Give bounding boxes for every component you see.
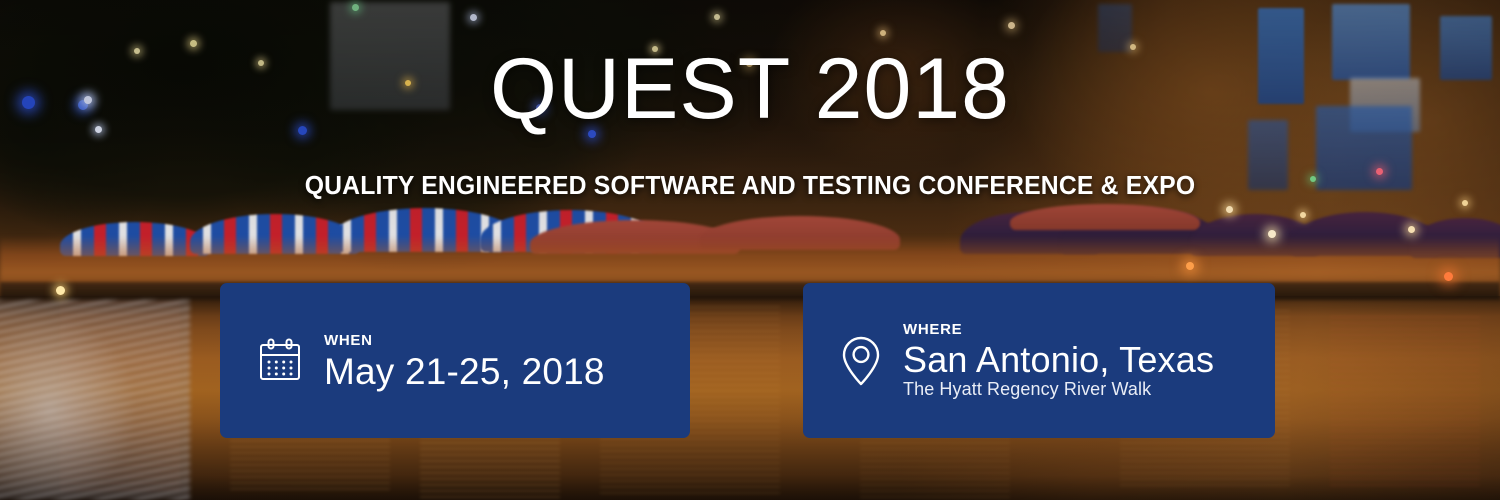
when-value: May 21-25, 2018 [324, 351, 605, 392]
where-card: WHERE San Antonio, Texas The Hyatt Regen… [803, 283, 1275, 438]
quest-2018-event-banner: QUEST 2018 QUALITY ENGINEERED SOFTWARE A… [0, 0, 1500, 500]
where-card-text: WHERE San Antonio, Texas The Hyatt Regen… [903, 321, 1214, 399]
map-pin-icon [833, 333, 889, 389]
where-value: San Antonio, Texas [903, 340, 1214, 380]
where-label: WHERE [903, 321, 1214, 338]
when-label: WHEN [324, 332, 605, 349]
event-subtitle: QUALITY ENGINEERED SOFTWARE AND TESTING … [23, 172, 1478, 201]
when-card: WHEN May 21-25, 2018 [220, 283, 690, 438]
when-card-text: WHEN May 21-25, 2018 [324, 332, 605, 392]
where-venue: The Hyatt Regency River Walk [903, 379, 1214, 400]
calendar-icon [252, 333, 308, 389]
banner-content: QUEST 2018 QUALITY ENGINEERED SOFTWARE A… [0, 0, 1500, 500]
event-title: QUEST 2018 [0, 46, 1500, 132]
